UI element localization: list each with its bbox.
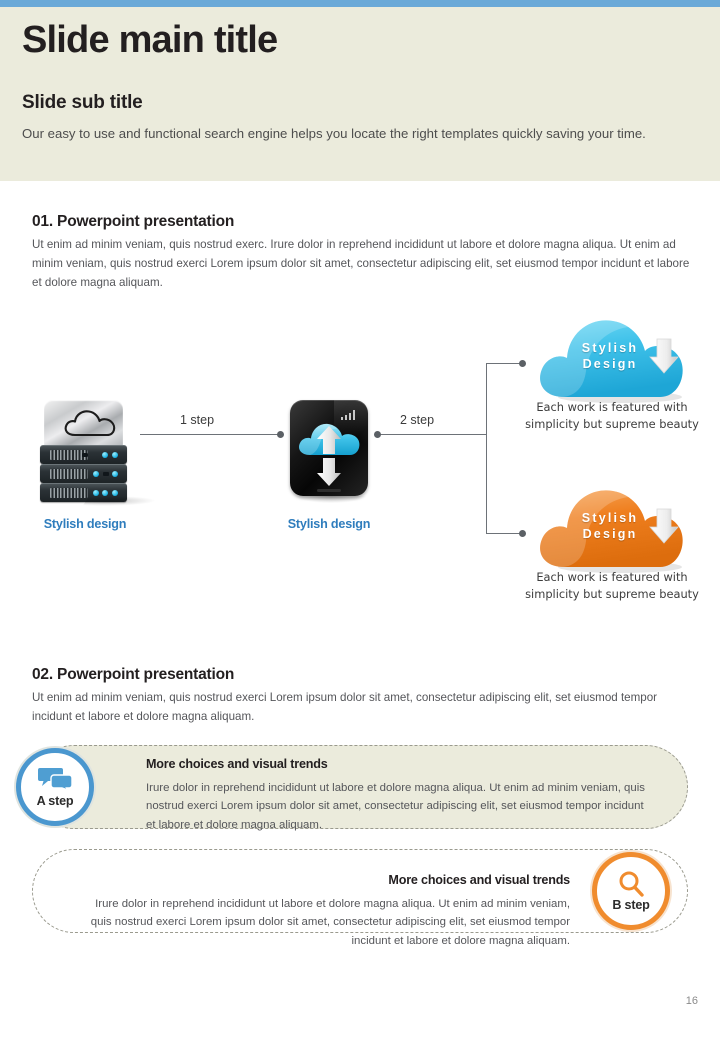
step-body-a: Irure dolor in reprehend incididunt ut l…	[146, 779, 646, 834]
search-magnifier-icon	[597, 870, 665, 898]
server-shadow	[82, 496, 159, 506]
cloud-sync-phone-icon	[290, 400, 368, 500]
step-badge-label-a: A step	[21, 794, 89, 808]
top-accent-bar	[0, 0, 720, 7]
step-label-1: 1 step	[180, 413, 214, 427]
cloud-title-blue: Stylish Design	[570, 341, 650, 372]
server-rack-unit	[40, 445, 127, 464]
page-title: Slide main title	[22, 21, 277, 59]
server-rack-unit	[40, 464, 127, 483]
page-number: 16	[686, 995, 698, 1007]
phone-body	[290, 400, 368, 496]
led-indicator	[112, 452, 118, 458]
connector-line-1	[140, 434, 280, 435]
connector-line-2	[378, 434, 486, 435]
node-label-server: Stylish design	[20, 517, 150, 531]
node-label-phone: Stylish design	[264, 517, 394, 531]
led-off	[82, 453, 88, 457]
branch-vertical-line	[486, 363, 487, 534]
cloud-title-line1: Stylish	[570, 341, 650, 357]
section-1-body: Ut enim ad minim veniam, quis nostrud ex…	[32, 236, 696, 292]
signal-bars-icon	[341, 409, 359, 420]
process-diagram: Stylish design 1 step	[0, 295, 720, 640]
home-button	[317, 489, 341, 492]
led-off	[103, 472, 109, 476]
led-indicator	[112, 471, 118, 477]
header-description: Our easy to use and functional search en…	[22, 124, 682, 144]
step-label-2: 2 step	[400, 413, 434, 427]
connector-dot	[374, 431, 381, 438]
phone-shadow	[296, 496, 366, 503]
slide-canvas: Slide main title Slide sub title Our eas…	[0, 0, 720, 1040]
led-indicator	[102, 452, 108, 458]
section-2-title: 02. Powerpoint presentation	[32, 666, 234, 684]
section-2-body: Ut enim ad minim veniam, quis nostrud ex…	[32, 689, 696, 727]
server-top-panel	[44, 400, 123, 446]
slide-header: Slide main title Slide sub title Our eas…	[0, 7, 720, 181]
cloud-title-line2: Design	[570, 357, 650, 373]
vent-grille	[50, 469, 88, 479]
connector-dot	[519, 530, 526, 537]
page-subtitle: Slide sub title	[22, 92, 143, 114]
step-badge-label-b: B step	[597, 898, 665, 912]
cloud-download-icon-orange: Stylish Design	[530, 483, 690, 573]
cloud-caption-orange: Each work is featured with simplicity bu…	[519, 569, 705, 602]
cloud-server-icon	[36, 400, 131, 500]
step-heading-b: More choices and visual trends	[352, 873, 570, 887]
step-body-b: Irure dolor in reprehend incididunt ut l…	[80, 895, 570, 950]
cloud-title-line2: Design	[570, 527, 650, 543]
cloud-outline-icon	[62, 409, 120, 437]
step-badge-b[interactable]: B step	[592, 852, 670, 930]
connector-dot	[519, 360, 526, 367]
cloud-title-orange: Stylish Design	[570, 511, 650, 542]
cloud-title-line1: Stylish	[570, 511, 650, 527]
section-1-title: 01. Powerpoint presentation	[32, 213, 234, 231]
step-badge-a[interactable]: A step	[16, 748, 94, 826]
cloud-download-icon-blue: Stylish Design	[530, 313, 690, 403]
cloud-caption-blue: Each work is featured with simplicity bu…	[519, 399, 705, 432]
led-indicator	[93, 471, 99, 477]
step-heading-a: More choices and visual trends	[146, 757, 328, 771]
connector-dot	[277, 431, 284, 438]
upload-download-arrows-icon	[315, 426, 343, 486]
chat-bubbles-icon	[21, 766, 89, 790]
vent-grille	[50, 488, 88, 498]
